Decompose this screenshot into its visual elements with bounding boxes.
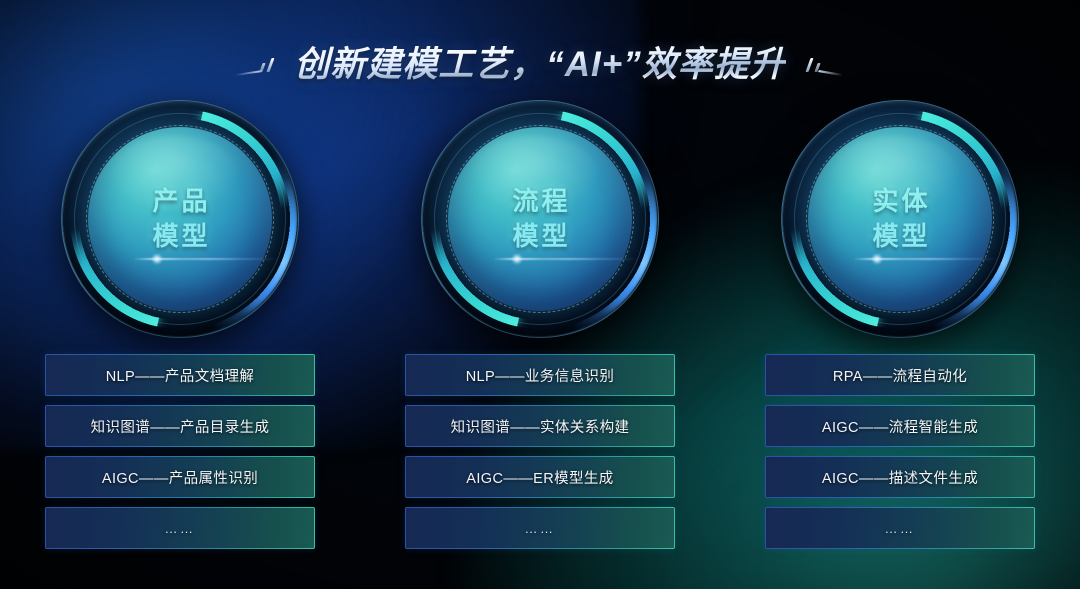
item-label: AIGC——产品属性识别 <box>102 467 258 488</box>
title-right-slash-icon <box>798 44 844 78</box>
page-title: 创新建模工艺，“AI+”效率提升 <box>294 36 785 87</box>
slide-title-row: 创新建模工艺，“AI+”效率提升 <box>0 32 1080 90</box>
column-process-model: 流程 模型 NLP——业务信息识别 知识图谱——实体关系构建 AIGC——ER模… <box>360 100 720 560</box>
badge-label-line2: 模型 <box>149 220 210 253</box>
item-label: …… <box>525 521 556 536</box>
badge-label: 流程 模型 <box>421 100 659 338</box>
badge-label-line2: 模型 <box>509 220 570 253</box>
item-label: …… <box>885 521 916 536</box>
item-list-product-model: NLP——产品文档理解 知识图谱——产品目录生成 AIGC——产品属性识别 …… <box>45 354 315 549</box>
item-box[interactable]: …… <box>405 507 675 549</box>
badge-label-line2: 模型 <box>869 220 930 253</box>
model-columns: 产品 模型 NLP——产品文档理解 知识图谱——产品目录生成 AIGC——产品属… <box>0 100 1080 560</box>
item-label: 知识图谱——实体关系构建 <box>451 416 630 437</box>
item-label: AIGC——流程智能生成 <box>822 416 978 437</box>
item-box[interactable]: AIGC——流程智能生成 <box>765 405 1035 447</box>
item-list-process-model: NLP——业务信息识别 知识图谱——实体关系构建 AIGC——ER模型生成 …… <box>405 354 675 549</box>
badge-label-line1: 产品 <box>149 185 210 218</box>
slide-canvas: 创新建模工艺，“AI+”效率提升 产品 <box>0 0 1080 589</box>
item-box[interactable]: 知识图谱——产品目录生成 <box>45 405 315 447</box>
item-list-entity-model: RPA——流程自动化 AIGC——流程智能生成 AIGC——描述文件生成 …… <box>765 354 1035 549</box>
badge-label-line1: 实体 <box>869 185 930 218</box>
item-box[interactable]: NLP——产品文档理解 <box>45 354 315 396</box>
item-label: AIGC——描述文件生成 <box>822 467 978 488</box>
item-box[interactable]: AIGC——描述文件生成 <box>765 456 1035 498</box>
item-box[interactable]: 知识图谱——实体关系构建 <box>405 405 675 447</box>
column-product-model: 产品 模型 NLP——产品文档理解 知识图谱——产品目录生成 AIGC——产品属… <box>0 100 360 560</box>
item-box[interactable]: NLP——业务信息识别 <box>405 354 675 396</box>
item-box[interactable]: …… <box>45 507 315 549</box>
badge-product-model[interactable]: 产品 模型 <box>61 100 299 338</box>
title-left-slash-icon <box>236 44 282 78</box>
item-label: …… <box>165 521 196 536</box>
badge-label-line1: 流程 <box>509 185 570 218</box>
item-label: RPA——流程自动化 <box>833 365 967 386</box>
badge-process-model[interactable]: 流程 模型 <box>421 100 659 338</box>
item-label: NLP——产品文档理解 <box>106 365 255 386</box>
column-entity-model: 实体 模型 RPA——流程自动化 AIGC——流程智能生成 AIGC——描述文件… <box>720 100 1080 560</box>
item-label: AIGC——ER模型生成 <box>466 467 613 488</box>
item-box[interactable]: RPA——流程自动化 <box>765 354 1035 396</box>
badge-entity-model[interactable]: 实体 模型 <box>781 100 1019 338</box>
item-box[interactable]: …… <box>765 507 1035 549</box>
item-box[interactable]: AIGC——ER模型生成 <box>405 456 675 498</box>
badge-label: 实体 模型 <box>781 100 1019 338</box>
badge-label: 产品 模型 <box>61 100 299 338</box>
item-box[interactable]: AIGC——产品属性识别 <box>45 456 315 498</box>
item-label: NLP——业务信息识别 <box>466 365 615 386</box>
item-label: 知识图谱——产品目录生成 <box>91 416 270 437</box>
